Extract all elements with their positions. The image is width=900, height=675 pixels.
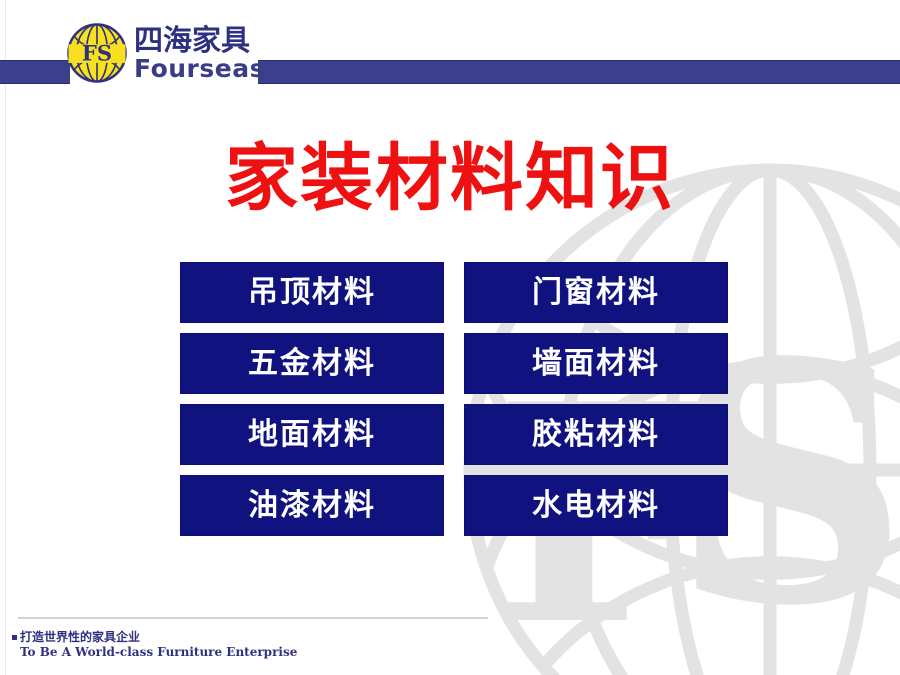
- page-title: 家装材料知识: [0, 141, 900, 218]
- category-button-label: 五金材料: [248, 349, 376, 379]
- footer-slogan-en: To Be A World-class Furniture Enterprise: [20, 645, 297, 661]
- category-button-label: 门窗材料: [532, 278, 660, 308]
- footer-divider: [18, 617, 488, 619]
- company-name-en: Fourseas: [134, 56, 265, 81]
- category-button-label: 油漆材料: [248, 491, 376, 521]
- category-button-wall-surface-materials[interactable]: 墙面材料: [464, 333, 728, 394]
- category-button-label: 地面材料: [248, 420, 376, 450]
- category-button-hardware-materials[interactable]: 五金材料: [180, 333, 444, 394]
- category-button-floor-materials[interactable]: 地面材料: [180, 404, 444, 465]
- footer-slogan: 打造世界性的家具企业 To Be A World-class Furniture…: [12, 630, 297, 661]
- category-button-ceiling-materials[interactable]: 吊顶材料: [180, 262, 444, 323]
- category-button-door-window-materials[interactable]: 门窗材料: [464, 262, 728, 323]
- page-title-text: 家装材料知识: [225, 136, 675, 221]
- category-button-label: 吊顶材料: [248, 278, 376, 308]
- slide-footer: 打造世界性的家具企业 To Be A World-class Furniture…: [0, 612, 900, 675]
- presentation-slide: F S FS: [0, 0, 900, 675]
- category-button-paint-materials[interactable]: 油漆材料: [180, 475, 444, 536]
- company-logo: FS 四海家具 Fourseas: [66, 22, 265, 84]
- category-button-adhesive-materials[interactable]: 胶粘材料: [464, 404, 728, 465]
- category-button-label: 墙面材料: [532, 349, 660, 379]
- bullet-square-icon: [12, 635, 17, 640]
- slide-header: FS 四海家具 Fourseas: [0, 0, 900, 105]
- header-bar-left: [0, 60, 70, 84]
- category-button-label: 胶粘材料: [532, 420, 660, 450]
- header-bar-right: [258, 60, 900, 84]
- footer-slogan-cn: 打造世界性的家具企业: [20, 630, 140, 645]
- company-logo-text: 四海家具 Fourseas: [134, 26, 265, 81]
- logo-monogram: FS: [82, 40, 112, 65]
- company-name-cn: 四海家具: [134, 26, 265, 55]
- category-button-label: 水电材料: [532, 491, 660, 521]
- category-button-plumbing-electrical-materials[interactable]: 水电材料: [464, 475, 728, 536]
- material-category-grid: 吊顶材料 门窗材料 五金材料 墙面材料 地面材料 胶粘材料 油漆材料 水电材料: [180, 262, 728, 536]
- footer-slogan-cn-row: 打造世界性的家具企业: [12, 630, 297, 645]
- fourseas-globe-logo-icon: FS: [66, 22, 128, 84]
